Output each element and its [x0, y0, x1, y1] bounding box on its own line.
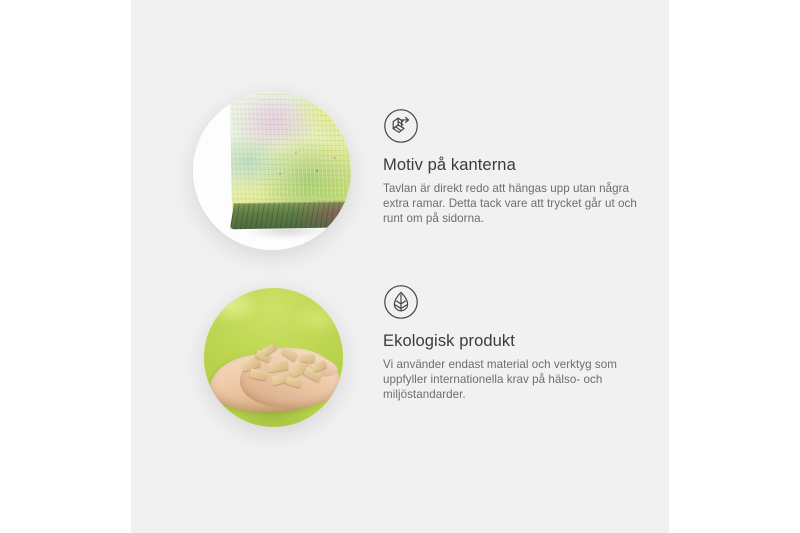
feature-block-edge-print: Motiv på kanterna Tavlan är direkt redo … — [131, 0, 669, 266]
feature-title: Ekologisk produkt — [383, 332, 658, 352]
canvas-print-corner-photo — [193, 92, 351, 250]
feature-text-edge-print: Motiv på kanterna Tavlan är direkt redo … — [383, 108, 643, 226]
feature-text-eco-product: Ekologisk produkt Vi använder endast mat… — [383, 284, 658, 402]
feature-title: Motiv på kanterna — [383, 156, 643, 176]
hands-holding-wood-chips-photo — [204, 288, 343, 427]
feature-description: Tavlan är direkt redo att hängas upp uta… — [383, 181, 643, 227]
leaf-icon — [383, 284, 419, 320]
feature-description: Vi använder endast material och verktyg … — [383, 357, 658, 403]
canvas-edge-print-icon — [383, 108, 419, 144]
feature-block-eco-product: Ekologisk produkt Vi använder endast mat… — [131, 266, 669, 533]
promo-infographic: Motiv på kanterna Tavlan är direkt redo … — [0, 0, 800, 533]
